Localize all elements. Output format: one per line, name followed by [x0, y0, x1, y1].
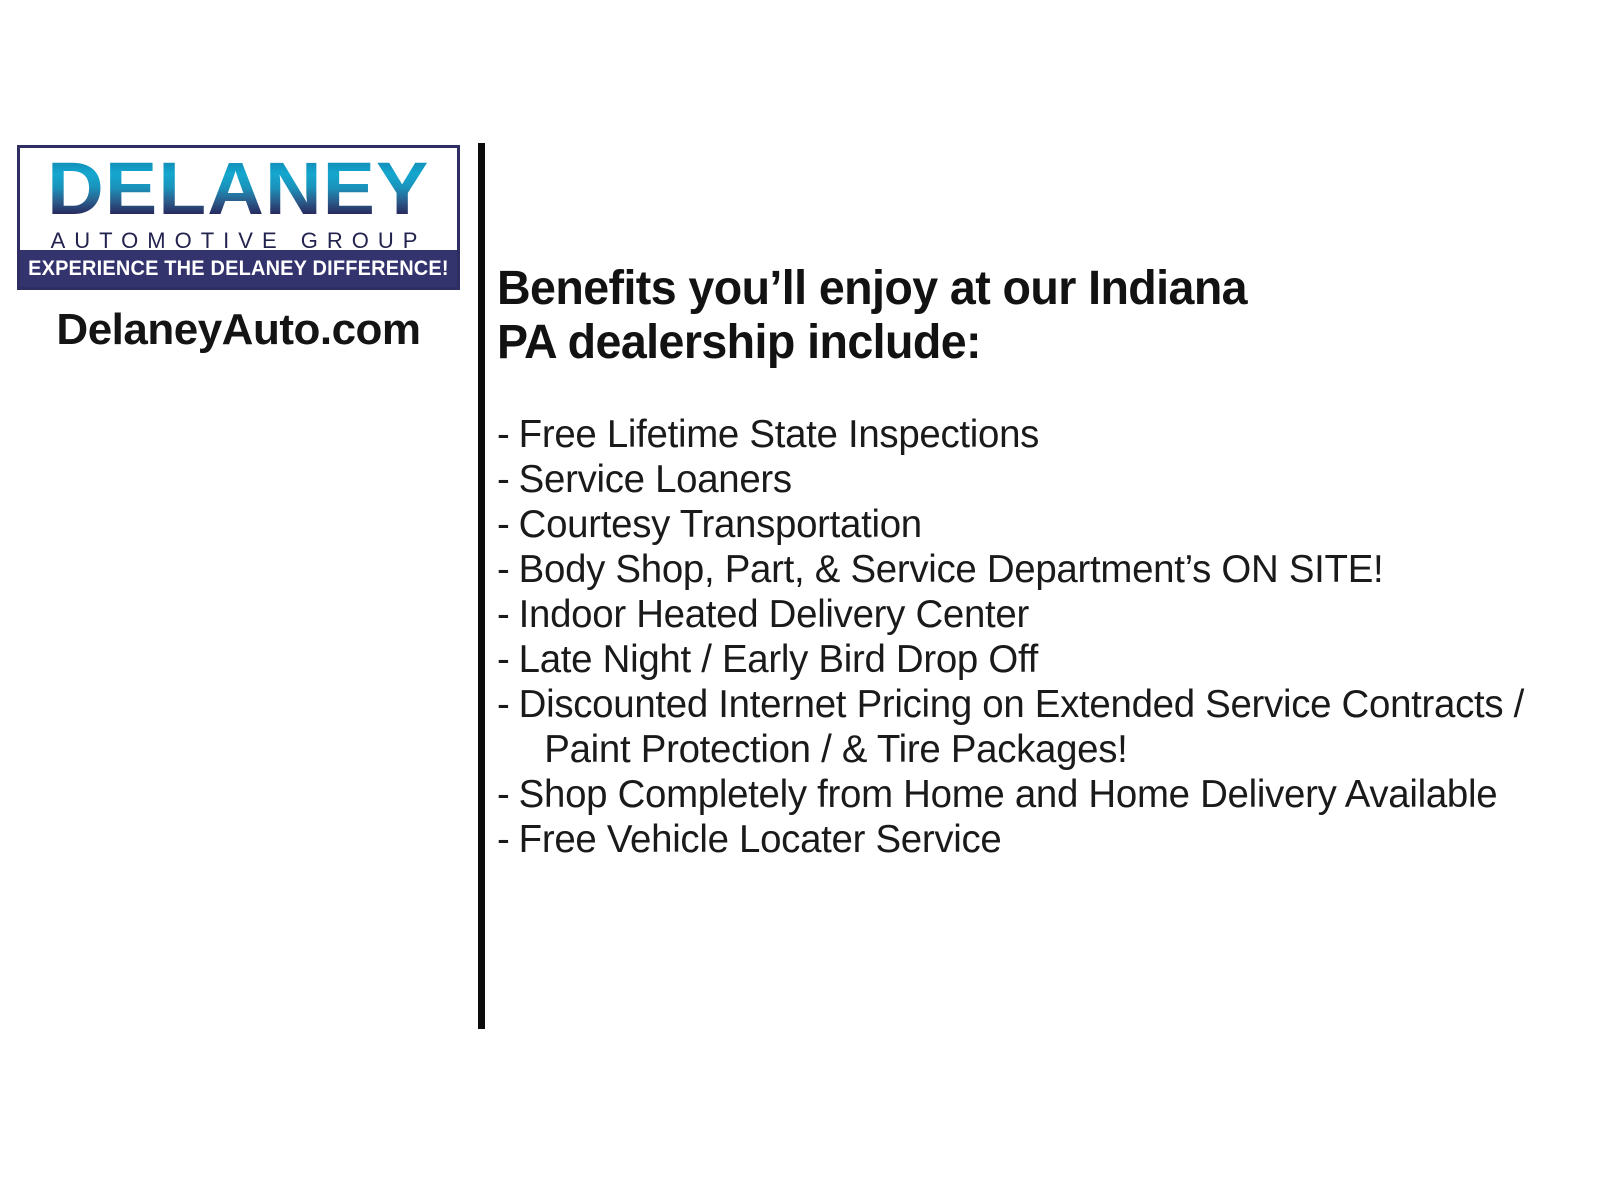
benefit-item-label: Free Vehicle Locater Service	[519, 818, 1002, 861]
benefit-item: -Service Loaners	[497, 457, 1566, 502]
benefit-item: -Body Shop, Part, & Service Department’s…	[497, 547, 1566, 592]
benefit-item-label: Courtesy Transportation	[519, 503, 922, 546]
benefits-heading: Benefits you’ll enjoy at our Indiana PA …	[497, 262, 1302, 370]
benefit-item-label: Indoor Heated Delivery Center	[519, 593, 1029, 636]
delaney-logo: DELANEY AUTOMOTIVE GROUP EXPERIENCE THE …	[17, 145, 460, 290]
logo-tagline-bar: EXPERIENCE THE DELANEY DIFFERENCE!	[20, 250, 457, 287]
benefit-item-label: Paint Protection / & Tire Packages!	[544, 728, 1127, 771]
benefit-item: -Shop Completely from Home and Home Deli…	[497, 772, 1566, 817]
benefit-item: -Indoor Heated Delivery Center	[497, 592, 1566, 637]
benefit-item: -Courtesy Transportation	[497, 502, 1566, 547]
benefits-panel: Benefits you’ll enjoy at our Indiana PA …	[497, 262, 1582, 862]
benefit-dash-marker: -	[497, 412, 519, 457]
benefit-item: -Discounted Internet Pricing on Extended…	[497, 682, 1566, 727]
benefit-dash-marker: -	[497, 592, 519, 637]
brand-panel: DELANEY AUTOMOTIVE GROUP EXPERIENCE THE …	[0, 0, 482, 1200]
slide-canvas: DELANEY AUTOMOTIVE GROUP EXPERIENCE THE …	[0, 0, 1600, 1200]
benefit-item: -Free Lifetime State Inspections	[497, 412, 1566, 457]
benefit-item-label: Body Shop, Part, & Service Department’s …	[519, 548, 1384, 591]
logo-tagline-text: EXPERIENCE THE DELANEY DIFFERENCE!	[28, 257, 449, 281]
logo-wordmark-text: DELANEY	[47, 152, 429, 226]
benefit-dash-marker: -	[497, 817, 519, 862]
benefit-item-label: Discounted Internet Pricing on Extended …	[519, 683, 1524, 726]
benefit-dash-marker: -	[497, 637, 519, 682]
benefit-dash-marker: -	[497, 457, 519, 502]
benefit-item-label: Free Lifetime State Inspections	[519, 413, 1039, 456]
benefit-dash-marker: -	[497, 502, 519, 547]
benefit-dash-marker: -	[497, 682, 519, 727]
website-url[interactable]: DelaneyAuto.com	[17, 305, 460, 355]
logo-wordmark: DELANEY	[20, 150, 457, 228]
benefit-item-label: Late Night / Early Bird Drop Off	[519, 638, 1038, 681]
benefit-item-label: Service Loaners	[519, 458, 792, 501]
benefit-dash-marker: -	[497, 547, 519, 592]
benefit-item: -Late Night / Early Bird Drop Off	[497, 637, 1566, 682]
benefit-item: -Free Vehicle Locater Service	[497, 817, 1566, 862]
benefit-dash-marker: -	[497, 772, 519, 817]
benefit-item-label: Shop Completely from Home and Home Deliv…	[519, 773, 1498, 816]
benefits-list: -Free Lifetime State Inspections-Service…	[497, 412, 1582, 862]
benefit-item: Paint Protection / & Tire Packages!	[497, 727, 1566, 772]
vertical-divider	[478, 143, 485, 1029]
